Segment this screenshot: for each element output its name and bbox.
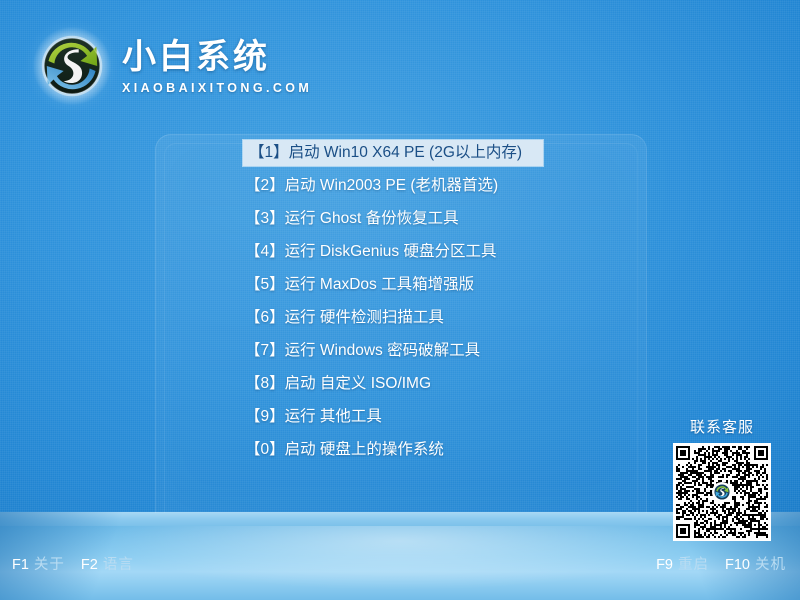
boot-menu-list[interactable]: 【1】启动 Win10 X64 PE (2G以上内存)【2】启动 Win2003… — [243, 140, 545, 470]
status-bar-right: F9重启F10关机 — [656, 553, 786, 574]
boot-menu-item-5[interactable]: 【5】运行 MaxDos 工具箱增强版 — [243, 272, 545, 298]
brand-domain: XIAOBAIXITONG.COM — [122, 81, 312, 95]
brand-text: 小白系统 XIAOBAIXITONG.COM — [122, 39, 312, 94]
boot-menu-item-key: 【2】 — [245, 177, 285, 194]
boot-menu-item-4[interactable]: 【4】运行 DiskGenius 硬盘分区工具 — [243, 239, 545, 265]
brand-logo: 小白系统 XIAOBAIXITONG.COM — [30, 24, 312, 108]
contact-support-label: 联系客服 — [672, 416, 772, 437]
boot-menu-item-6[interactable]: 【6】运行 硬件检测扫描工具 — [243, 305, 545, 331]
boot-menu-item-key: 【7】 — [245, 342, 285, 359]
boot-menu-item-label: 启动 Win10 X64 PE (2G以上内存) — [289, 144, 522, 161]
boot-menu-item-2[interactable]: 【2】启动 Win2003 PE (老机器首选) — [243, 173, 545, 199]
boot-menu-item-3[interactable]: 【3】运行 Ghost 备份恢复工具 — [243, 206, 545, 232]
boot-menu-item-key: 【4】 — [245, 243, 285, 260]
boot-menu-item-key: 【8】 — [245, 375, 285, 392]
boot-menu-item-label: 运行 Ghost 备份恢复工具 — [285, 210, 459, 227]
fkey-label-f1[interactable]: 关于 — [34, 557, 65, 573]
boot-menu-item-7[interactable]: 【7】运行 Windows 密码破解工具 — [243, 338, 545, 364]
qr-code[interactable] — [673, 443, 771, 541]
boot-menu-item-key: 【3】 — [245, 210, 285, 227]
status-bar-left: F1关于F2语言 — [12, 553, 134, 574]
boot-menu-item-1[interactable]: 【1】启动 Win10 X64 PE (2G以上内存) — [243, 140, 543, 166]
pe-boot-screen: 小白系统 XIAOBAIXITONG.COM 【1】启动 Win10 X64 P… — [0, 0, 800, 600]
fkey-f1[interactable]: F1 — [12, 557, 29, 573]
recycle-circle-logo-icon — [30, 24, 114, 108]
fkey-label-f10[interactable]: 关机 — [755, 557, 786, 573]
boot-menu-item-key: 【1】 — [249, 144, 289, 161]
fkey-label-f9[interactable]: 重启 — [678, 557, 709, 573]
fkey-label-f2[interactable]: 语言 — [103, 557, 134, 573]
qr-center-logo-icon — [712, 482, 732, 502]
boot-menu-item-label: 运行 硬件检测扫描工具 — [285, 309, 444, 326]
fkey-f10[interactable]: F10 — [725, 557, 750, 573]
boot-menu-item-label: 运行 其他工具 — [285, 408, 382, 425]
fkey-f9[interactable]: F9 — [656, 557, 673, 573]
boot-menu-item-10[interactable]: 【0】启动 硬盘上的操作系统 — [243, 437, 545, 463]
boot-menu-item-label: 运行 MaxDos 工具箱增强版 — [285, 276, 474, 293]
boot-menu-item-label: 启动 硬盘上的操作系统 — [285, 441, 444, 458]
brand-title: 小白系统 — [122, 39, 312, 76]
boot-menu-item-8[interactable]: 【8】启动 自定义 ISO/IMG — [243, 371, 545, 397]
boot-menu-item-key: 【9】 — [245, 408, 285, 425]
boot-menu-item-9[interactable]: 【9】运行 其他工具 — [243, 404, 545, 430]
boot-menu-item-label: 启动 自定义 ISO/IMG — [285, 375, 431, 392]
fkey-f2[interactable]: F2 — [81, 557, 98, 573]
contact-support-block: 联系客服 — [672, 416, 772, 541]
boot-menu-item-label: 运行 Windows 密码破解工具 — [285, 342, 481, 359]
boot-menu-item-label: 运行 DiskGenius 硬盘分区工具 — [285, 243, 497, 260]
boot-menu-item-key: 【6】 — [245, 309, 285, 326]
boot-menu-item-key: 【0】 — [245, 441, 285, 458]
recycle-circle-logo-icon-small — [713, 483, 731, 501]
boot-menu-item-key: 【5】 — [245, 276, 285, 293]
boot-menu-item-label: 启动 Win2003 PE (老机器首选) — [285, 177, 499, 194]
